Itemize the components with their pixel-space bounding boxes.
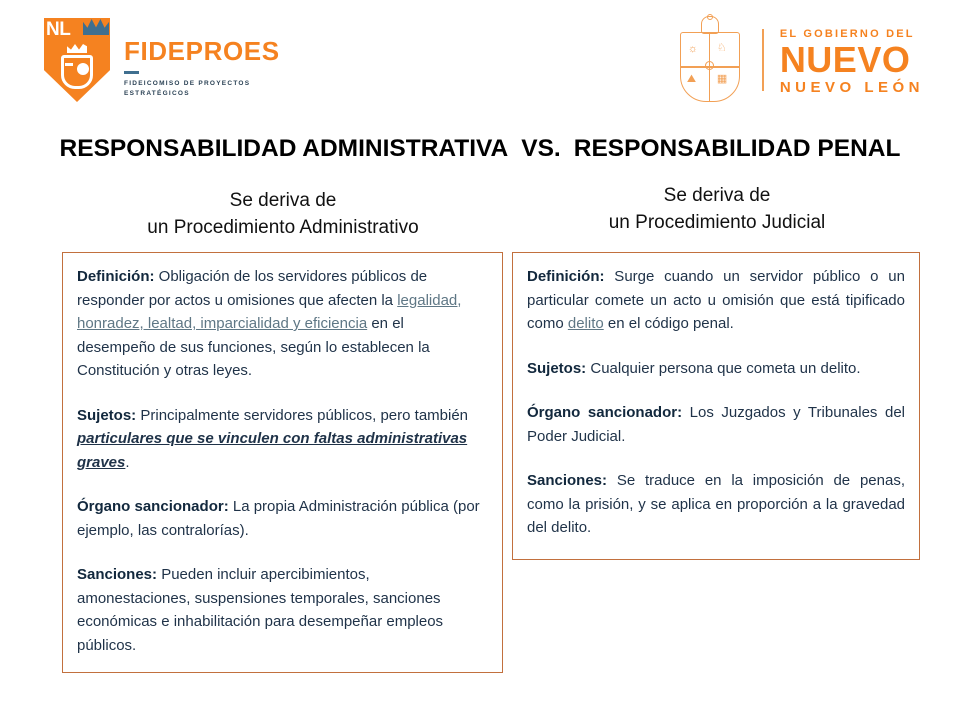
coat-of-arms-quadrant-mountain-icon: ⛰	[687, 74, 696, 85]
gobierno-divider	[762, 29, 764, 91]
text-sujetos-part1: Principalmente servidores públicos, pero…	[136, 407, 468, 424]
label-sujetos: Sujetos:	[527, 360, 586, 377]
paragraph-sanciones: Sanciones: Se traduce en la imposición d…	[527, 469, 905, 540]
fideproes-wordmark: FIDEPROES FIDEICOMISO DE PROYECTOS ESTRA…	[124, 18, 280, 99]
paragraph-sujetos: Sujetos: Cualquier persona que cometa un…	[527, 357, 905, 381]
content-box-administrativa: Definición: Obligación de los servidores…	[62, 252, 503, 673]
subtitle-administrativa-line1: Se deriva de	[62, 187, 504, 214]
text-definicion-part2: en el código penal.	[604, 315, 734, 332]
label-sujetos: Sujetos:	[77, 407, 136, 424]
label-organo: Órgano sancionador:	[77, 498, 229, 515]
subtitle-penal-line1: Se deriva de	[512, 182, 922, 209]
subtitle-administrativa-line2: un Procedimiento Administrativo	[62, 214, 504, 241]
gobierno-name: NUEVO	[780, 41, 924, 79]
coat-of-arms-center-boss	[705, 61, 714, 70]
gobierno-wordmark: EL GOBIERNO DEL NUEVO NUEVO LEÓN	[780, 23, 924, 97]
link-delito[interactable]: delito	[568, 315, 604, 332]
fideproes-tagline: FIDEICOMISO DE PROYECTOS ESTRATÉGICOS	[124, 79, 274, 99]
gobierno-nuevo-leon-logo: ☼ ♘ ⛰ ▦ EL GOBIERNO DEL NUEVO NUEVO LEÓN	[672, 14, 924, 106]
paragraph-definicion: Definición: Obligación de los servidores…	[77, 265, 486, 383]
header-bar: NL FIDEPROES FIDEICOMISO DE PROYECTOS ES…	[0, 0, 960, 118]
paragraph-sujetos: Sujetos: Principalmente servidores públi…	[77, 404, 486, 475]
coat-of-arms-quadrant-factory-icon: ▦	[717, 74, 727, 85]
label-organo: Órgano sancionador:	[527, 404, 682, 421]
inner-circle-shape	[77, 63, 89, 75]
title-left: RESPONSABILIDAD ADMINISTRATIVA	[60, 135, 509, 162]
subtitle-administrativa: Se deriva de un Procedimiento Administra…	[62, 187, 504, 241]
page-title: RESPONSABILIDAD ADMINISTRATIVAVS.RESPONS…	[0, 135, 960, 163]
text-sujetos: Cualquier persona que cometa un delito.	[586, 360, 860, 377]
title-right: RESPONSABILIDAD PENAL	[574, 135, 901, 162]
nl-monogram-label: NL	[46, 20, 70, 39]
coat-of-arms-quadrant-sun-icon: ☼	[688, 44, 698, 55]
content-box-penal: Definición: Surge cuando un servidor púb…	[512, 252, 920, 560]
coat-of-arms-icon: ☼ ♘ ⛰ ▦	[672, 14, 748, 106]
emphasis-particulares: particulares que se vinculen con faltas …	[77, 430, 467, 471]
text-sujetos-part2: .	[125, 454, 129, 471]
paragraph-sanciones: Sanciones: Pueden incluir apercibimiento…	[77, 563, 486, 657]
subtitle-penal: Se deriva de un Procedimiento Judicial	[512, 182, 922, 236]
paragraph-definicion: Definición: Surge cuando un servidor púb…	[527, 265, 905, 336]
paragraph-organo: Órgano sancionador: Los Juzgados y Tribu…	[527, 401, 905, 448]
coat-of-arms-quadrant-lion-icon: ♘	[717, 43, 727, 54]
label-sanciones: Sanciones:	[77, 566, 157, 583]
inner-bar-shape	[65, 63, 73, 66]
label-sanciones: Sanciones:	[527, 472, 607, 489]
fideproes-logo: NL FIDEPROES FIDEICOMISO DE PROYECTOS ES…	[44, 18, 280, 102]
gobierno-state: NUEVO LEÓN	[780, 79, 924, 97]
fideproes-name: FIDEPROES	[124, 38, 280, 64]
label-definicion: Definición:	[77, 268, 155, 285]
fideproes-rule	[124, 71, 139, 74]
nl-shield-icon: NL	[44, 18, 110, 102]
title-vs: VS.	[508, 135, 574, 162]
paragraph-organo: Órgano sancionador: La propia Administra…	[77, 495, 486, 542]
subtitle-penal-line2: un Procedimiento Judicial	[512, 209, 922, 236]
label-definicion: Definición:	[527, 268, 605, 285]
